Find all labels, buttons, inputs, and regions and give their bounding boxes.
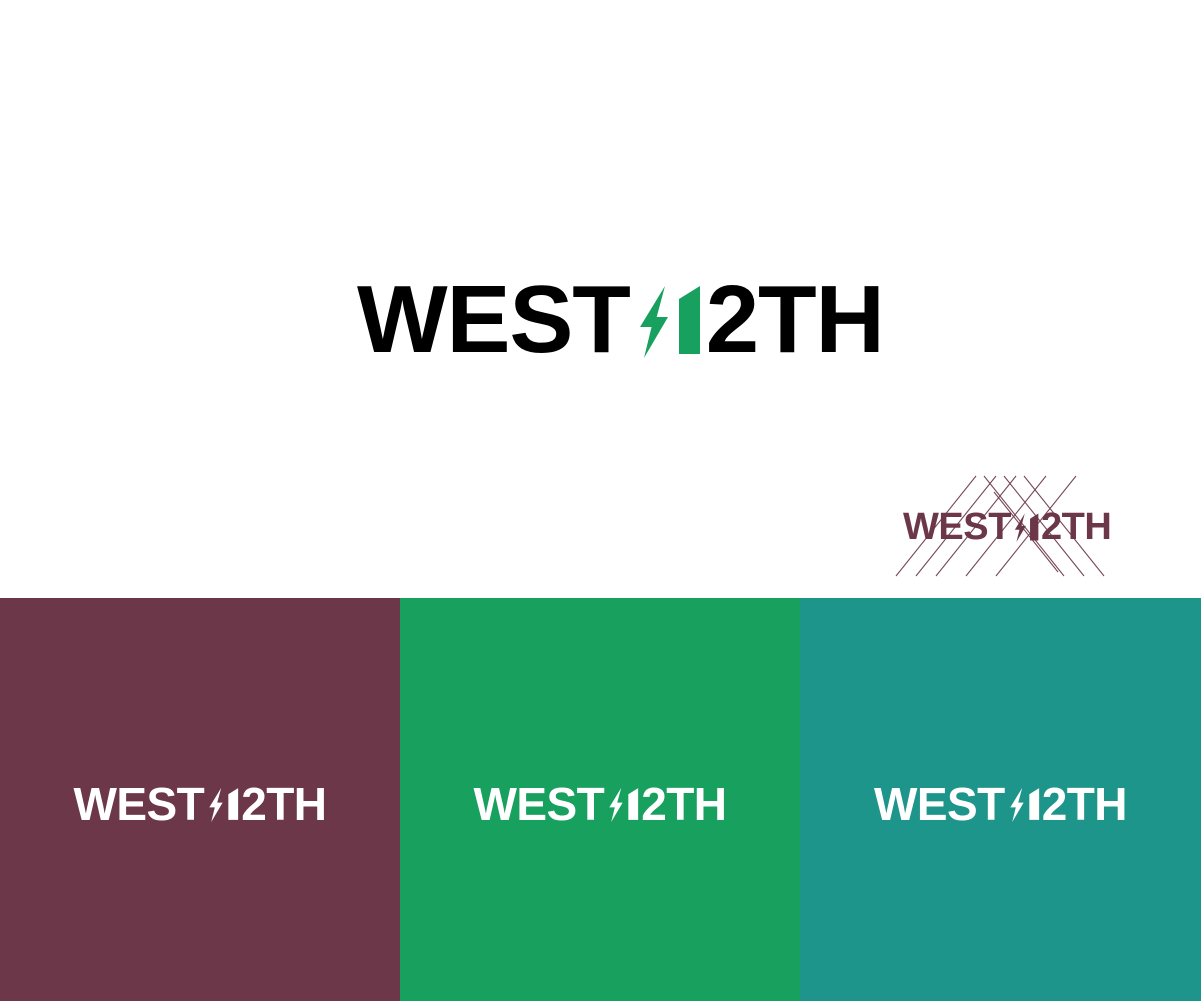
wordmark-text-west: WEST xyxy=(903,508,1011,546)
lightning-bolt-icon xyxy=(206,781,225,827)
lightning-bolt-icon xyxy=(1012,508,1028,546)
wordmark-text-west: WEST xyxy=(474,781,605,827)
wordmark-text-2th: 2TH xyxy=(706,272,884,368)
swatch-wordmark: WEST 2TH xyxy=(874,781,1127,827)
numeral-one-glyph xyxy=(226,781,240,827)
lightning-bolt-icon xyxy=(633,272,673,368)
color-swatch-strip: WEST 2TH WEST xyxy=(0,598,1201,1001)
swatch-teal: WEST 2TH xyxy=(800,598,1201,1001)
swatch-wordmark: WEST 2TH xyxy=(474,781,727,827)
rejected-logo-variant: WEST 2TH xyxy=(880,470,1120,582)
wordmark-text-west: WEST xyxy=(74,781,205,827)
wordmark-text-2th: 2TH xyxy=(241,781,326,827)
wordmark-text-2th: 2TH xyxy=(1042,781,1127,827)
swatch-maroon: WEST 2TH xyxy=(0,598,400,1001)
swatch-green: WEST 2TH xyxy=(400,598,800,1001)
lightning-bolt-icon xyxy=(606,781,625,827)
wordmark-text-west: WEST xyxy=(874,781,1005,827)
wordmark-text-west: WEST xyxy=(357,272,630,368)
wordmark-text-2th: 2TH xyxy=(641,781,726,827)
wordmark-text-2th: 2TH xyxy=(1041,508,1111,546)
numeral-one-glyph xyxy=(626,781,640,827)
primary-wordmark: WEST 2TH xyxy=(357,272,884,368)
lightning-bolt-icon xyxy=(1007,781,1026,827)
swatch-wordmark: WEST 2TH xyxy=(74,781,327,827)
numeral-one-glyph xyxy=(674,272,704,368)
numeral-one-glyph xyxy=(1028,508,1040,546)
numeral-one-glyph xyxy=(1027,781,1041,827)
rejected-wordmark: WEST 2TH xyxy=(903,508,1111,546)
